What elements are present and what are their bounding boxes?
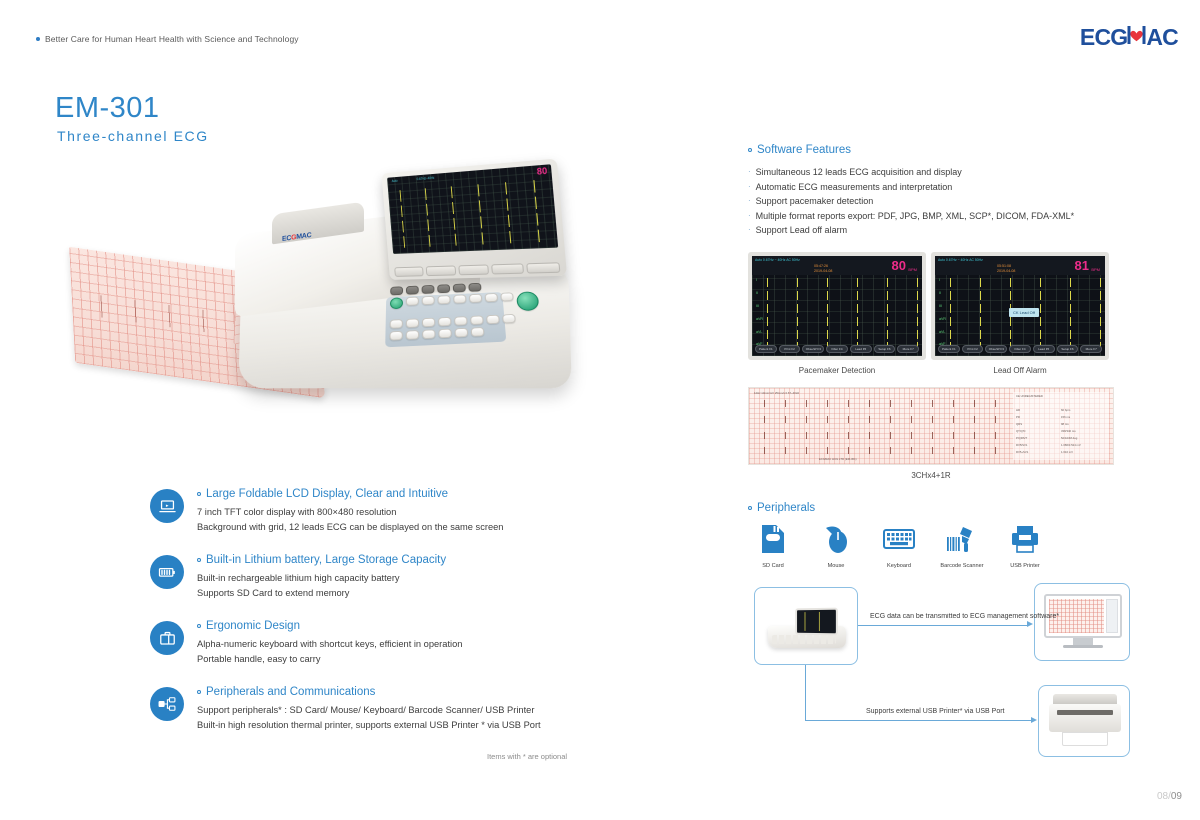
bullet-icon (197, 690, 201, 694)
ecg-trace-row (755, 317, 919, 326)
diagram-arrow-to-monitor (858, 625, 1028, 626)
feature-title: Ergonomic Design (197, 620, 462, 632)
feature-text: Large Foldable LCD Display, Clear and In… (197, 487, 503, 535)
ecg-trace-row (755, 291, 919, 300)
softkey-button[interactable]: Print F2 (779, 345, 801, 353)
alpha-key (471, 327, 485, 337)
diagram-label-software: ECG data can be transmitted to ECG manag… (870, 613, 1059, 620)
mini-device-screen (795, 607, 838, 635)
ecg-trace-row (755, 330, 919, 339)
softkey-button[interactable]: Setup F6 (874, 345, 896, 353)
screen-time: 05:51:08 (997, 264, 1011, 268)
bullet-icon (197, 492, 201, 496)
peripheral-label: SD Card (748, 563, 798, 569)
list-item-text: Support Lead off alarm (756, 223, 847, 238)
feature-text: Ergonomic Design Alpha-numeric keyboard … (197, 619, 462, 667)
peripheral-item-barcode-scanner: Barcode Scanner (937, 523, 987, 569)
keyboard-icon (882, 523, 916, 555)
alpha-key (438, 329, 452, 339)
alpha-key (486, 315, 500, 325)
ecg-trace-row (755, 278, 919, 287)
battery-icon (150, 555, 184, 589)
alpha-key (390, 319, 403, 329)
report-footer-text: ECGMAC HCG LTD (EM-301) (819, 457, 857, 461)
lcd-softkey (526, 262, 560, 273)
lead-label: aVL (756, 330, 762, 334)
softkey-button[interactable]: Lead F5 (1033, 345, 1055, 353)
mini-ecg-device-icon (768, 608, 846, 648)
ecg-trace-row (938, 278, 1102, 287)
feature-line: Built-in high resolution thermal printer… (197, 718, 541, 733)
peripheral-item-keyboard: Keyboard (874, 523, 924, 569)
feature-title: Peripherals and Communications (197, 686, 541, 698)
portable-case-icon (150, 621, 184, 655)
ecg-trace-row (938, 330, 1102, 339)
printer-top (1053, 694, 1117, 704)
bullet-icon (197, 624, 201, 628)
bullet-icon (748, 506, 752, 510)
report-panel-title: CE UNREGISTERED (1016, 394, 1043, 398)
function-key (406, 286, 419, 295)
screenshot-item: Auto 0.67Hz ~ 40Hz AC 50Hz 05:51:08 2019… (931, 252, 1109, 375)
screen-setting-text: Auto 0.67Hz ~ 40Hz AC 50Hz (938, 258, 983, 262)
softkey-button[interactable]: Patient F1 (755, 345, 777, 353)
alpha-key (437, 295, 450, 304)
feature-item: Peripherals and Communications Support p… (150, 685, 580, 733)
bullet-icon (748, 148, 752, 152)
alpha-key (422, 318, 435, 328)
lcd-softkey (425, 265, 455, 276)
feature-line: Portable handle, easy to carry (197, 652, 462, 667)
screenshot-caption: Pacemaker Detection (748, 366, 926, 375)
ecg-trace-row (938, 291, 1102, 300)
feature-line: Supports SD Card to extend memory (197, 586, 446, 601)
sd-card-icon (758, 523, 788, 555)
softkey-button[interactable]: Obse/W F3 (985, 345, 1007, 353)
report-panel-value: 60 bpm (1061, 408, 1070, 412)
ecg-report-sample: 12Hz 10mm/mV 25mm/s 0.67~40Hz ECGMAC HCG… (748, 387, 1114, 465)
screen-statusbar: Auto 0.67Hz ~ 40Hz AC 50Hz 05:47:26 2019… (752, 256, 922, 275)
lead-label: aVR (756, 317, 763, 321)
diagram-arrowhead-printer (1031, 717, 1037, 723)
printer-body (1049, 704, 1121, 732)
feature-title-text: Peripherals and Communications (206, 686, 375, 698)
report-panel-value: 1.086/0.524 mV (1061, 443, 1081, 447)
peripheral-label: Mouse (811, 563, 861, 569)
report-panel-value: 98 ms (1061, 422, 1069, 426)
feature-title-text: Large Foldable LCD Display, Clear and In… (206, 488, 448, 500)
printer-slot (1057, 710, 1113, 715)
screen-date: 2019-04-08 (997, 269, 1015, 273)
product-photo: ECGMAC Auto0.67Hz~40Hz 80 (60, 160, 570, 405)
screenshot-gallery: Auto 0.67Hz ~ 40Hz AC 50Hz 05:47:26 2019… (748, 252, 1168, 375)
diagram-monitor-box (1034, 583, 1130, 661)
alpha-key (406, 330, 419, 340)
peripherals-heading: Peripherals (748, 502, 1168, 514)
bullet-icon: · (748, 209, 751, 224)
screen-softkey-row: Patient F1 Print F2 Obse/W F3 Filter F4 … (755, 345, 919, 353)
diagram-line-down (805, 665, 806, 721)
logo-text-ac: AC (1146, 24, 1178, 51)
feature-line: Background with grid, 12 leads ECG can b… (197, 520, 503, 535)
report-panel-value: 156 ms (1061, 415, 1070, 419)
optional-note: Items with * are optional (487, 752, 567, 761)
lcd-softkey (394, 266, 423, 276)
brochure-page: Better Care for Human Heart Health with … (0, 0, 1200, 820)
softkey-button[interactable]: More F7 (897, 345, 919, 353)
feature-line: Support peripherals* : SD Card/ Mouse/ K… (197, 703, 541, 718)
screen-statusbar: Auto 0.67Hz ~ 40Hz AC 50Hz 05:51:08 2019… (935, 256, 1105, 275)
lead-label: II (756, 291, 758, 295)
screen-setting-text: Auto 0.67Hz ~ 40Hz AC 50Hz (755, 258, 800, 262)
lead-label: aVL (939, 330, 945, 334)
monitor-foot (1063, 645, 1103, 648)
alpha-key (500, 292, 514, 301)
screenshot-item: Auto 0.67Hz ~ 40Hz AC 50Hz 05:47:26 2019… (748, 252, 926, 375)
device-keypad (389, 279, 566, 351)
logo-heart-icon (1127, 24, 1146, 44)
tagline: Better Care for Human Heart Health with … (36, 34, 299, 44)
alpha-key (502, 314, 516, 323)
screen-time: 05:47:26 (814, 264, 828, 268)
peripheral-item-usb-printer: USB Printer (1000, 523, 1050, 569)
lcd-softkey-row (394, 262, 560, 277)
list-item-text: Multiple format reports export: PDF, JPG… (756, 209, 1074, 224)
page-number-left: 08 (1157, 791, 1168, 802)
diagram-arrowhead-monitor (1027, 621, 1033, 627)
alpha-key (469, 294, 482, 303)
lead-label: I (756, 278, 757, 282)
feature-text: Built-in Lithium battery, Large Storage … (197, 553, 446, 601)
peripherals-heading-text: Peripherals (757, 502, 815, 514)
peripheral-item-sd-card: SD Card (748, 523, 798, 569)
diagram-device-box (754, 587, 858, 665)
logo-text-e: E (1080, 24, 1095, 51)
lcd-display: Auto0.67Hz~40Hz 80 (387, 164, 558, 254)
report-trace-row (755, 400, 1005, 407)
barcode-scanner-icon (945, 523, 979, 555)
alpha-key (438, 317, 451, 327)
lead-label: II (939, 291, 941, 295)
right-column: Software Features ·Simultaneous 12 leads… (748, 144, 1168, 737)
monitor-stand (1073, 638, 1093, 645)
feature-item: Built-in Lithium battery, Large Storage … (150, 553, 580, 601)
report-panel-value: 338/340 ms (1061, 429, 1076, 433)
diagram-label-printer: Supports external USB Printer* via USB P… (866, 708, 1005, 715)
report-caption: 3CHx4+1R (748, 471, 1114, 480)
printer-output-paper (1062, 732, 1108, 746)
report-measurement-panel: CE UNREGISTERED HR 60 bpm PR 156 ms QRS … (1013, 392, 1109, 460)
software-features-heading-text: Software Features (757, 144, 851, 156)
ecg-trace-row (938, 317, 1102, 326)
report-trace-row (755, 432, 1005, 439)
report-panel-label: HR (1016, 408, 1020, 412)
alpha-key (455, 328, 469, 338)
connectivity-diagram: ECG data can be transmitted to ECG manag… (748, 587, 1148, 737)
diagram-printer-box (1038, 685, 1130, 757)
feature-line: Alpha-numeric keyboard with shortcut key… (197, 637, 462, 652)
tagline-text: Better Care for Human Heart Health with … (45, 34, 299, 44)
lead-off-alert-badge: CK Lead Off (1009, 308, 1039, 317)
page-title: EM-301 (55, 92, 160, 125)
printer-icon (1049, 694, 1121, 748)
start-stop-key (516, 291, 540, 311)
bullet-icon: · (748, 223, 751, 238)
feature-title-text: Ergonomic Design (206, 620, 300, 632)
list-item: ·Multiple format reports export: PDF, JP… (748, 209, 1168, 224)
software-features-heading: Software Features (748, 144, 1168, 156)
usb-printer-icon (1009, 523, 1041, 555)
mini-device-trace (799, 611, 834, 630)
lead-label: aVR (939, 317, 946, 321)
alpha-key (485, 293, 498, 302)
screen-heartrate: 81 (1075, 259, 1089, 272)
feature-title: Large Foldable LCD Display, Clear and In… (197, 488, 503, 500)
alpha-key (453, 294, 466, 303)
feature-list: Large Foldable LCD Display, Clear and In… (150, 487, 580, 751)
report-panel-label: QT/QTc (1016, 429, 1026, 433)
screen-heartrate-unit: BPM (908, 267, 917, 272)
mini-device-keys (772, 635, 836, 644)
softkey-button[interactable]: Patient F1 (938, 345, 960, 353)
alpha-key (454, 316, 467, 326)
feature-item: Ergonomic Design Alpha-numeric keyboard … (150, 619, 580, 667)
list-item-text: Simultaneous 12 leads ECG acquisition an… (756, 165, 962, 180)
logo-text-cg: CG (1094, 24, 1127, 51)
ecg-screen-pacemaker: Auto 0.67Hz ~ 40Hz AC 50Hz 05:47:26 2019… (748, 252, 926, 360)
alpha-key (406, 318, 419, 328)
software-features-list: ·Simultaneous 12 leads ECG acquisition a… (748, 165, 1168, 238)
softkey-button[interactable]: More F7 (1080, 345, 1102, 353)
tagline-bullet-icon (36, 37, 40, 41)
screen-heartrate-unit: BPM (1091, 267, 1100, 272)
peripheral-item-mouse: Mouse (811, 523, 861, 569)
softkey-button[interactable]: Obse/W F3 (802, 345, 824, 353)
screen-date: 2019-04-08 (814, 269, 832, 273)
function-key (422, 285, 435, 294)
screen-heartrate: 80 (892, 259, 906, 272)
list-item: ·Support pacemaker detection (748, 194, 1168, 209)
softkey-button[interactable]: Print F2 (962, 345, 984, 353)
monitor-icon (1044, 594, 1122, 652)
bullet-icon: · (748, 194, 751, 209)
report-panel-label: RV5/SV1 (1016, 443, 1027, 447)
screenshot-caption: Lead Off Alarm (931, 366, 1109, 375)
lcd-softkey (458, 264, 490, 275)
report-trace-row (755, 416, 1005, 423)
report-panel-label: P/QRS/T (1016, 436, 1027, 440)
connectivity-icon (150, 687, 184, 721)
feature-line: 7 inch TFT color display with 800×480 re… (197, 505, 503, 520)
softkey-button[interactable]: Setup F6 (1057, 345, 1079, 353)
peripheral-label: Keyboard (874, 563, 924, 569)
report-panel-label: QRS (1016, 422, 1022, 426)
list-item-text: Automatic ECG measurements and interpret… (756, 180, 953, 195)
function-key (390, 286, 403, 295)
lcd-heartrate: 80 (536, 166, 547, 177)
report-panel-value: 1.610 mV (1061, 450, 1073, 454)
feature-text: Peripherals and Communications Support p… (197, 685, 541, 733)
monitor-sidebar (1106, 599, 1118, 633)
function-key (437, 284, 450, 293)
mouse-icon (821, 523, 851, 555)
list-item: ·Simultaneous 12 leads ECG acquisition a… (748, 165, 1168, 180)
function-key (453, 284, 466, 293)
bullet-icon: · (748, 180, 751, 195)
function-key (468, 283, 481, 292)
alpha-key (406, 297, 419, 306)
page-number: 08/09 (1157, 791, 1182, 802)
report-panel-label: PR (1016, 415, 1020, 419)
list-item-text: Support pacemaker detection (756, 194, 874, 209)
ecg-trace-row (755, 304, 919, 313)
alpha-key (470, 315, 484, 325)
report-trace-row (755, 447, 1005, 454)
feature-title-text: Built-in Lithium battery, Large Storage … (206, 554, 446, 566)
alpha-key (389, 331, 402, 341)
ecg-screen-leadoff: Auto 0.67Hz ~ 40Hz AC 50Hz 05:51:08 2019… (931, 252, 1109, 360)
list-item: ·Support Lead off alarm (748, 223, 1168, 238)
page-number-right: 09 (1171, 791, 1182, 802)
bullet-icon: · (748, 165, 751, 180)
screen-softkey-row: Patient F1 Print F2 Obse/W F3 Filter F4 … (938, 345, 1102, 353)
feature-item: Large Foldable LCD Display, Clear and In… (150, 487, 580, 535)
report-header-text: 12Hz 10mm/mV 25mm/s 0.67~40Hz (754, 391, 799, 395)
softkey-button[interactable]: Filter F4 (1009, 345, 1031, 353)
softkey-button[interactable]: Lead F5 (850, 345, 872, 353)
alpha-key (422, 329, 435, 339)
power-key (390, 297, 403, 309)
lcd-display-icon (150, 489, 184, 523)
report-panel-label: RV5+SV1 (1016, 450, 1028, 454)
lead-label: III (756, 304, 759, 308)
lead-label: I (939, 278, 940, 282)
diagram-arrow-to-printer (805, 720, 1032, 721)
report-panel-value: 52/42/48 deg (1061, 436, 1077, 440)
feature-title: Built-in Lithium battery, Large Storage … (197, 554, 446, 566)
lead-label: III (939, 304, 942, 308)
alpha-key (422, 296, 435, 305)
bullet-icon (197, 558, 201, 562)
lcd-softkey (492, 263, 525, 274)
softkey-button[interactable]: Filter F4 (826, 345, 848, 353)
feature-line: Built-in rechargeable lithium high capac… (197, 571, 446, 586)
device-lcd-screen: Auto0.67Hz~40Hz 80 (381, 159, 567, 280)
peripheral-label: Barcode Scanner (937, 563, 987, 569)
page-subtitle: Three-channel ECG (57, 128, 209, 144)
brand-logo: ECGAC (1080, 24, 1178, 51)
list-item: ·Automatic ECG measurements and interpre… (748, 180, 1168, 195)
peripheral-label: USB Printer (1000, 563, 1050, 569)
peripherals-icon-row: SD Card Mouse (748, 523, 1168, 569)
